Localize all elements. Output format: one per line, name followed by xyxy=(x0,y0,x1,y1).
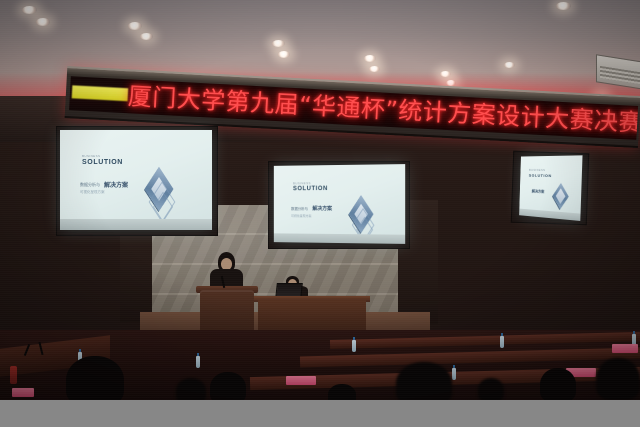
downlight-icon xyxy=(272,40,285,47)
slide-highlight: 解决方案 xyxy=(104,180,128,189)
slide-highlight: 解决方案 xyxy=(532,189,545,194)
slide-title: SOLUTION xyxy=(293,186,328,192)
downlight-icon xyxy=(504,62,515,68)
slide-highlight: 解决方案 xyxy=(312,205,332,212)
left-slide: BUSINESS SOLUTION 数据分析与 解决方案 可视化呈现方案 xyxy=(60,130,212,230)
downlight-icon xyxy=(36,18,50,26)
water-bottle xyxy=(196,356,200,368)
downlight-icon xyxy=(556,2,571,10)
downlight-icon xyxy=(364,55,376,62)
left-projection-screen: BUSINESS SOLUTION 数据分析与 解决方案 可视化呈现方案 xyxy=(60,130,212,230)
water-bottle xyxy=(452,368,456,380)
slide-sub: 数据分析与 xyxy=(80,182,100,188)
auditorium-photo: 厦门大学第九届“华通杯”统计方案设计大赛决赛暨颁奖典礼 BUSINESS SOL… xyxy=(0,0,640,427)
screen-bottom-shade xyxy=(274,234,405,244)
slide-title: SOLUTION xyxy=(529,173,552,178)
bottle-on-table xyxy=(10,366,17,384)
center-projection-screen: BUSINESS SOLUTION 数据分析与 解决方案 可视化呈现方案 xyxy=(274,164,405,244)
slide-title: SOLUTION xyxy=(82,159,123,166)
downlight-icon xyxy=(140,33,153,40)
downlight-icon xyxy=(369,66,380,72)
audience-head xyxy=(66,356,124,406)
slide-diagram-icon xyxy=(553,183,569,209)
downlight-icon xyxy=(22,6,37,14)
audience-head xyxy=(596,358,640,400)
audience-head xyxy=(540,368,576,402)
slide-sub2: 可视化呈现方案 xyxy=(291,214,311,218)
water-bottle xyxy=(352,340,356,352)
downlight-icon xyxy=(278,51,290,58)
slide-kicker: BUSINESS xyxy=(293,181,311,185)
name-card xyxy=(286,376,316,385)
right-slide: BUSINESS SOLUTION 解决方案 xyxy=(519,155,582,221)
banner-accent-segment xyxy=(72,85,129,101)
slide-kicker: BUSINESS xyxy=(82,154,100,158)
name-card xyxy=(12,388,34,397)
center-slide: BUSINESS SOLUTION 数据分析与 解决方案 可视化呈现方案 xyxy=(274,164,405,244)
bottom-letterbox xyxy=(0,400,640,427)
slide-kicker: BUSINESS xyxy=(529,168,545,172)
audience-head xyxy=(478,378,504,402)
downlight-icon xyxy=(128,22,142,30)
slide-sub: 数据分析与 xyxy=(291,207,308,212)
screen-bottom-shade xyxy=(60,219,212,230)
name-card xyxy=(612,344,638,353)
downlight-icon xyxy=(440,71,451,77)
water-bottle xyxy=(500,336,504,348)
slide-sub2: 可视化呈现方案 xyxy=(80,190,105,195)
right-projection-screen: BUSINESS SOLUTION 解决方案 xyxy=(519,155,582,221)
